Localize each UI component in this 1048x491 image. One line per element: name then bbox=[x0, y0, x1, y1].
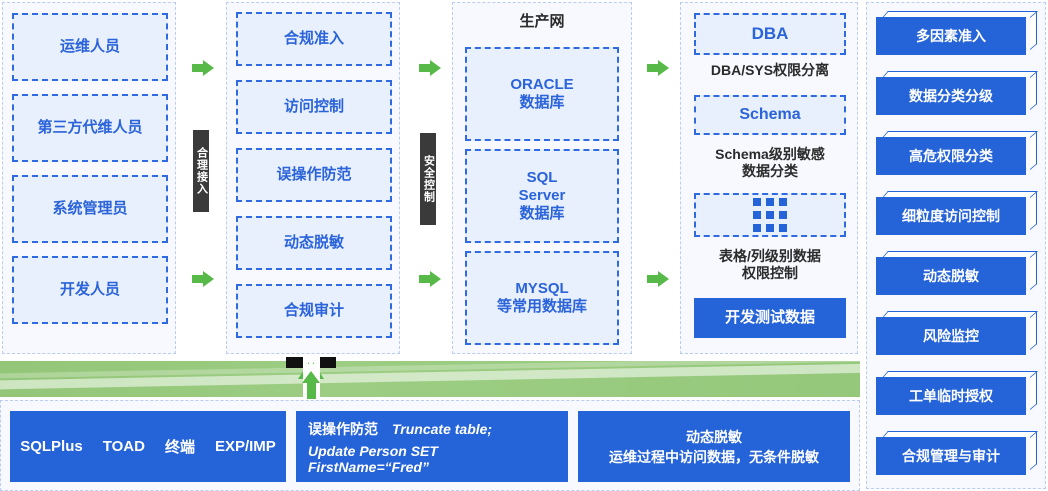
sidebar-item-label: 风险监控 bbox=[876, 317, 1026, 355]
card-label: Schema bbox=[739, 105, 800, 125]
bevel-right bbox=[1030, 431, 1037, 470]
arrow-up-shaft bbox=[307, 382, 316, 399]
bottom-box-tools[interactable]: SQLPlus TOAD 终端 EXP/IMP bbox=[10, 411, 286, 482]
arrow-head bbox=[430, 271, 441, 287]
grid-dot bbox=[779, 198, 787, 206]
bevel-right bbox=[1030, 11, 1037, 50]
diagram-root: 运维人员 第三方代维人员 系统管理员 开发人员 合理接入 合规准入 访问控制 误… bbox=[0, 0, 1048, 491]
caption-schema-text: Schema级别敏感 数据分类 bbox=[715, 146, 825, 180]
bevel-right bbox=[1030, 371, 1037, 410]
green-banner bbox=[0, 361, 860, 397]
connector1-vertical-tag: 合理接入 bbox=[193, 130, 209, 212]
sidebar-item-5[interactable]: 风险监控 bbox=[876, 311, 1037, 357]
card-personnel-1[interactable]: 第三方代维人员 bbox=[12, 94, 168, 162]
sidebar-item-label: 多因素准入 bbox=[876, 17, 1026, 55]
card-label: 误操作防范 bbox=[276, 166, 351, 184]
misoperation-code-line2: Update Person SET FirstName=“Fred” bbox=[308, 443, 556, 475]
card-capability-2[interactable]: 误操作防范 bbox=[236, 148, 392, 202]
right-sidebar: 多因素准入 数据分类分级 高危权限分类 细粒度访问控制 动态脱敏 风险监控 bbox=[866, 2, 1046, 489]
sidebar-item-7[interactable]: 合规管理与审计 bbox=[876, 431, 1037, 477]
production-network-title-text: 生产网 bbox=[519, 13, 564, 31]
arrow-connector3-bottom bbox=[647, 271, 669, 287]
card-db-oracle[interactable]: ORACLE 数据库 bbox=[465, 47, 619, 141]
bevel-right bbox=[1030, 311, 1037, 350]
card-capability-1[interactable]: 访问控制 bbox=[236, 80, 392, 134]
tool-sqlplus: SQLPlus bbox=[20, 438, 83, 455]
arrow-connector2-bottom bbox=[419, 271, 441, 287]
card-label: 系统管理员 bbox=[52, 200, 127, 218]
sidebar-item-1[interactable]: 数据分类分级 bbox=[876, 71, 1037, 117]
card-label: ORACLE 数据库 bbox=[510, 76, 573, 113]
column-security-capabilities: 合规准入 访问控制 误操作防范 动态脱敏 合规审计 bbox=[226, 2, 400, 354]
bevel-right bbox=[1030, 131, 1037, 170]
card-capability-0[interactable]: 合规准入 bbox=[236, 12, 392, 66]
bottom-panel: SQLPlus TOAD 终端 EXP/IMP 误操作防范 Truncate t… bbox=[0, 400, 860, 491]
masking-line2: 运维过程中访问数据，无条件脱敏 bbox=[609, 447, 819, 467]
tool-toad: TOAD bbox=[103, 438, 145, 455]
card-personnel-2[interactable]: 系统管理员 bbox=[12, 175, 168, 243]
arrow-head bbox=[430, 60, 441, 76]
grid-dot bbox=[753, 198, 761, 206]
card-label: 访问控制 bbox=[284, 98, 344, 116]
bevel-right bbox=[1030, 191, 1037, 230]
card-label: 动态脱敏 bbox=[284, 234, 344, 252]
arrow-head bbox=[658, 271, 669, 287]
arrow-head bbox=[658, 60, 669, 76]
column-personnel: 运维人员 第三方代维人员 系统管理员 开发人员 bbox=[2, 2, 176, 354]
sidebar-item-6[interactable]: 工单临时授权 bbox=[876, 371, 1037, 417]
grid-dot bbox=[766, 198, 774, 206]
caption-dba: DBA/SYS权限分离 bbox=[685, 60, 855, 82]
sidebar-item-label: 动态脱敏 bbox=[876, 257, 1026, 295]
connector2-vertical-tag: 安全控制 bbox=[420, 133, 436, 225]
card-label: 合规准入 bbox=[284, 30, 344, 48]
grid-dot bbox=[766, 211, 774, 219]
card-label: SQL Server 数据库 bbox=[519, 169, 566, 224]
card-personnel-3[interactable]: 开发人员 bbox=[12, 256, 168, 324]
card-db-sqlserver[interactable]: SQL Server 数据库 bbox=[465, 149, 619, 243]
card-label: MYSQL 等常用数据库 bbox=[497, 280, 587, 317]
dev-test-data-button[interactable]: 开发测试数据 bbox=[694, 298, 846, 338]
arrow-head bbox=[203, 271, 214, 287]
grid-3x3-icon bbox=[753, 198, 787, 232]
card-dba[interactable]: DBA bbox=[694, 13, 846, 55]
sidebar-item-label: 细粒度访问控制 bbox=[876, 197, 1026, 235]
bottom-box-dynamic-masking[interactable]: 动态脱敏 运维过程中访问数据，无条件脱敏 bbox=[578, 411, 850, 482]
bottom-box-misoperation[interactable]: 误操作防范 Truncate table; Update Person SET … bbox=[296, 411, 568, 482]
grid-dot bbox=[753, 224, 761, 232]
card-label: 第三方代维人员 bbox=[37, 119, 142, 137]
card-capability-4[interactable]: 合规审计 bbox=[236, 284, 392, 338]
production-network-title: 生产网 bbox=[453, 11, 631, 33]
connector2-tag-label: 安全控制 bbox=[423, 155, 434, 203]
sidebar-item-label: 合规管理与审计 bbox=[876, 437, 1026, 475]
misoperation-label: 误操作防范 bbox=[308, 419, 378, 439]
grid-dot bbox=[779, 224, 787, 232]
caption-schema: Schema级别敏感 数据分类 bbox=[685, 142, 855, 184]
card-db-mysql[interactable]: MYSQL 等常用数据库 bbox=[465, 251, 619, 345]
bevel-right bbox=[1030, 251, 1037, 290]
grid-dot bbox=[779, 211, 787, 219]
tool-terminal: 终端 bbox=[165, 436, 195, 457]
arrow-connector3-top bbox=[647, 60, 669, 76]
sidebar-item-label: 工单临时授权 bbox=[876, 377, 1026, 415]
card-capability-3[interactable]: 动态脱敏 bbox=[236, 216, 392, 270]
sidebar-item-3[interactable]: 细粒度访问控制 bbox=[876, 191, 1037, 237]
bevel-right bbox=[1030, 71, 1037, 110]
arrow-connector2-top bbox=[419, 60, 441, 76]
up-arrow-icon bbox=[286, 357, 336, 399]
arrow-connector1-bottom bbox=[192, 271, 214, 287]
masking-line1: 动态脱敏 bbox=[609, 427, 819, 447]
arrow-connector1-top bbox=[192, 60, 214, 76]
column-privilege-hierarchy: DBA DBA/SYS权限分离 Schema Schema级别敏感 数据分类 bbox=[680, 2, 858, 354]
dev-test-data-label: 开发测试数据 bbox=[725, 308, 815, 328]
card-table-column-grid[interactable] bbox=[694, 193, 846, 237]
misoperation-code-line1: Truncate table; bbox=[392, 421, 492, 437]
column-production-network: 生产网 ORACLE 数据库 SQL Server 数据库 MYSQL 等常用数… bbox=[452, 2, 632, 354]
card-personnel-0[interactable]: 运维人员 bbox=[12, 13, 168, 81]
tool-expimp: EXP/IMP bbox=[215, 438, 276, 455]
card-label: 开发人员 bbox=[60, 281, 120, 299]
card-label: 合规审计 bbox=[284, 302, 344, 320]
sidebar-item-2[interactable]: 高危权限分类 bbox=[876, 131, 1037, 177]
card-label: DBA bbox=[752, 24, 789, 45]
caption-table-column-text: 表格/列级别数据 权限控制 bbox=[719, 248, 821, 282]
caption-dba-text: DBA/SYS权限分离 bbox=[711, 62, 829, 79]
sidebar-item-0[interactable]: 多因素准入 bbox=[876, 11, 1037, 57]
arrow-head bbox=[203, 60, 214, 76]
connector1-tag-label: 合理接入 bbox=[196, 147, 207, 195]
sidebar-item-4[interactable]: 动态脱敏 bbox=[876, 251, 1037, 297]
caption-table-column: 表格/列级别数据 权限控制 bbox=[685, 244, 855, 286]
card-schema[interactable]: Schema bbox=[694, 95, 846, 135]
grid-dot bbox=[766, 224, 774, 232]
sidebar-item-label: 数据分类分级 bbox=[876, 77, 1026, 115]
sidebar-item-label: 高危权限分类 bbox=[876, 137, 1026, 175]
card-label: 运维人员 bbox=[60, 38, 120, 56]
grid-dot bbox=[753, 211, 761, 219]
